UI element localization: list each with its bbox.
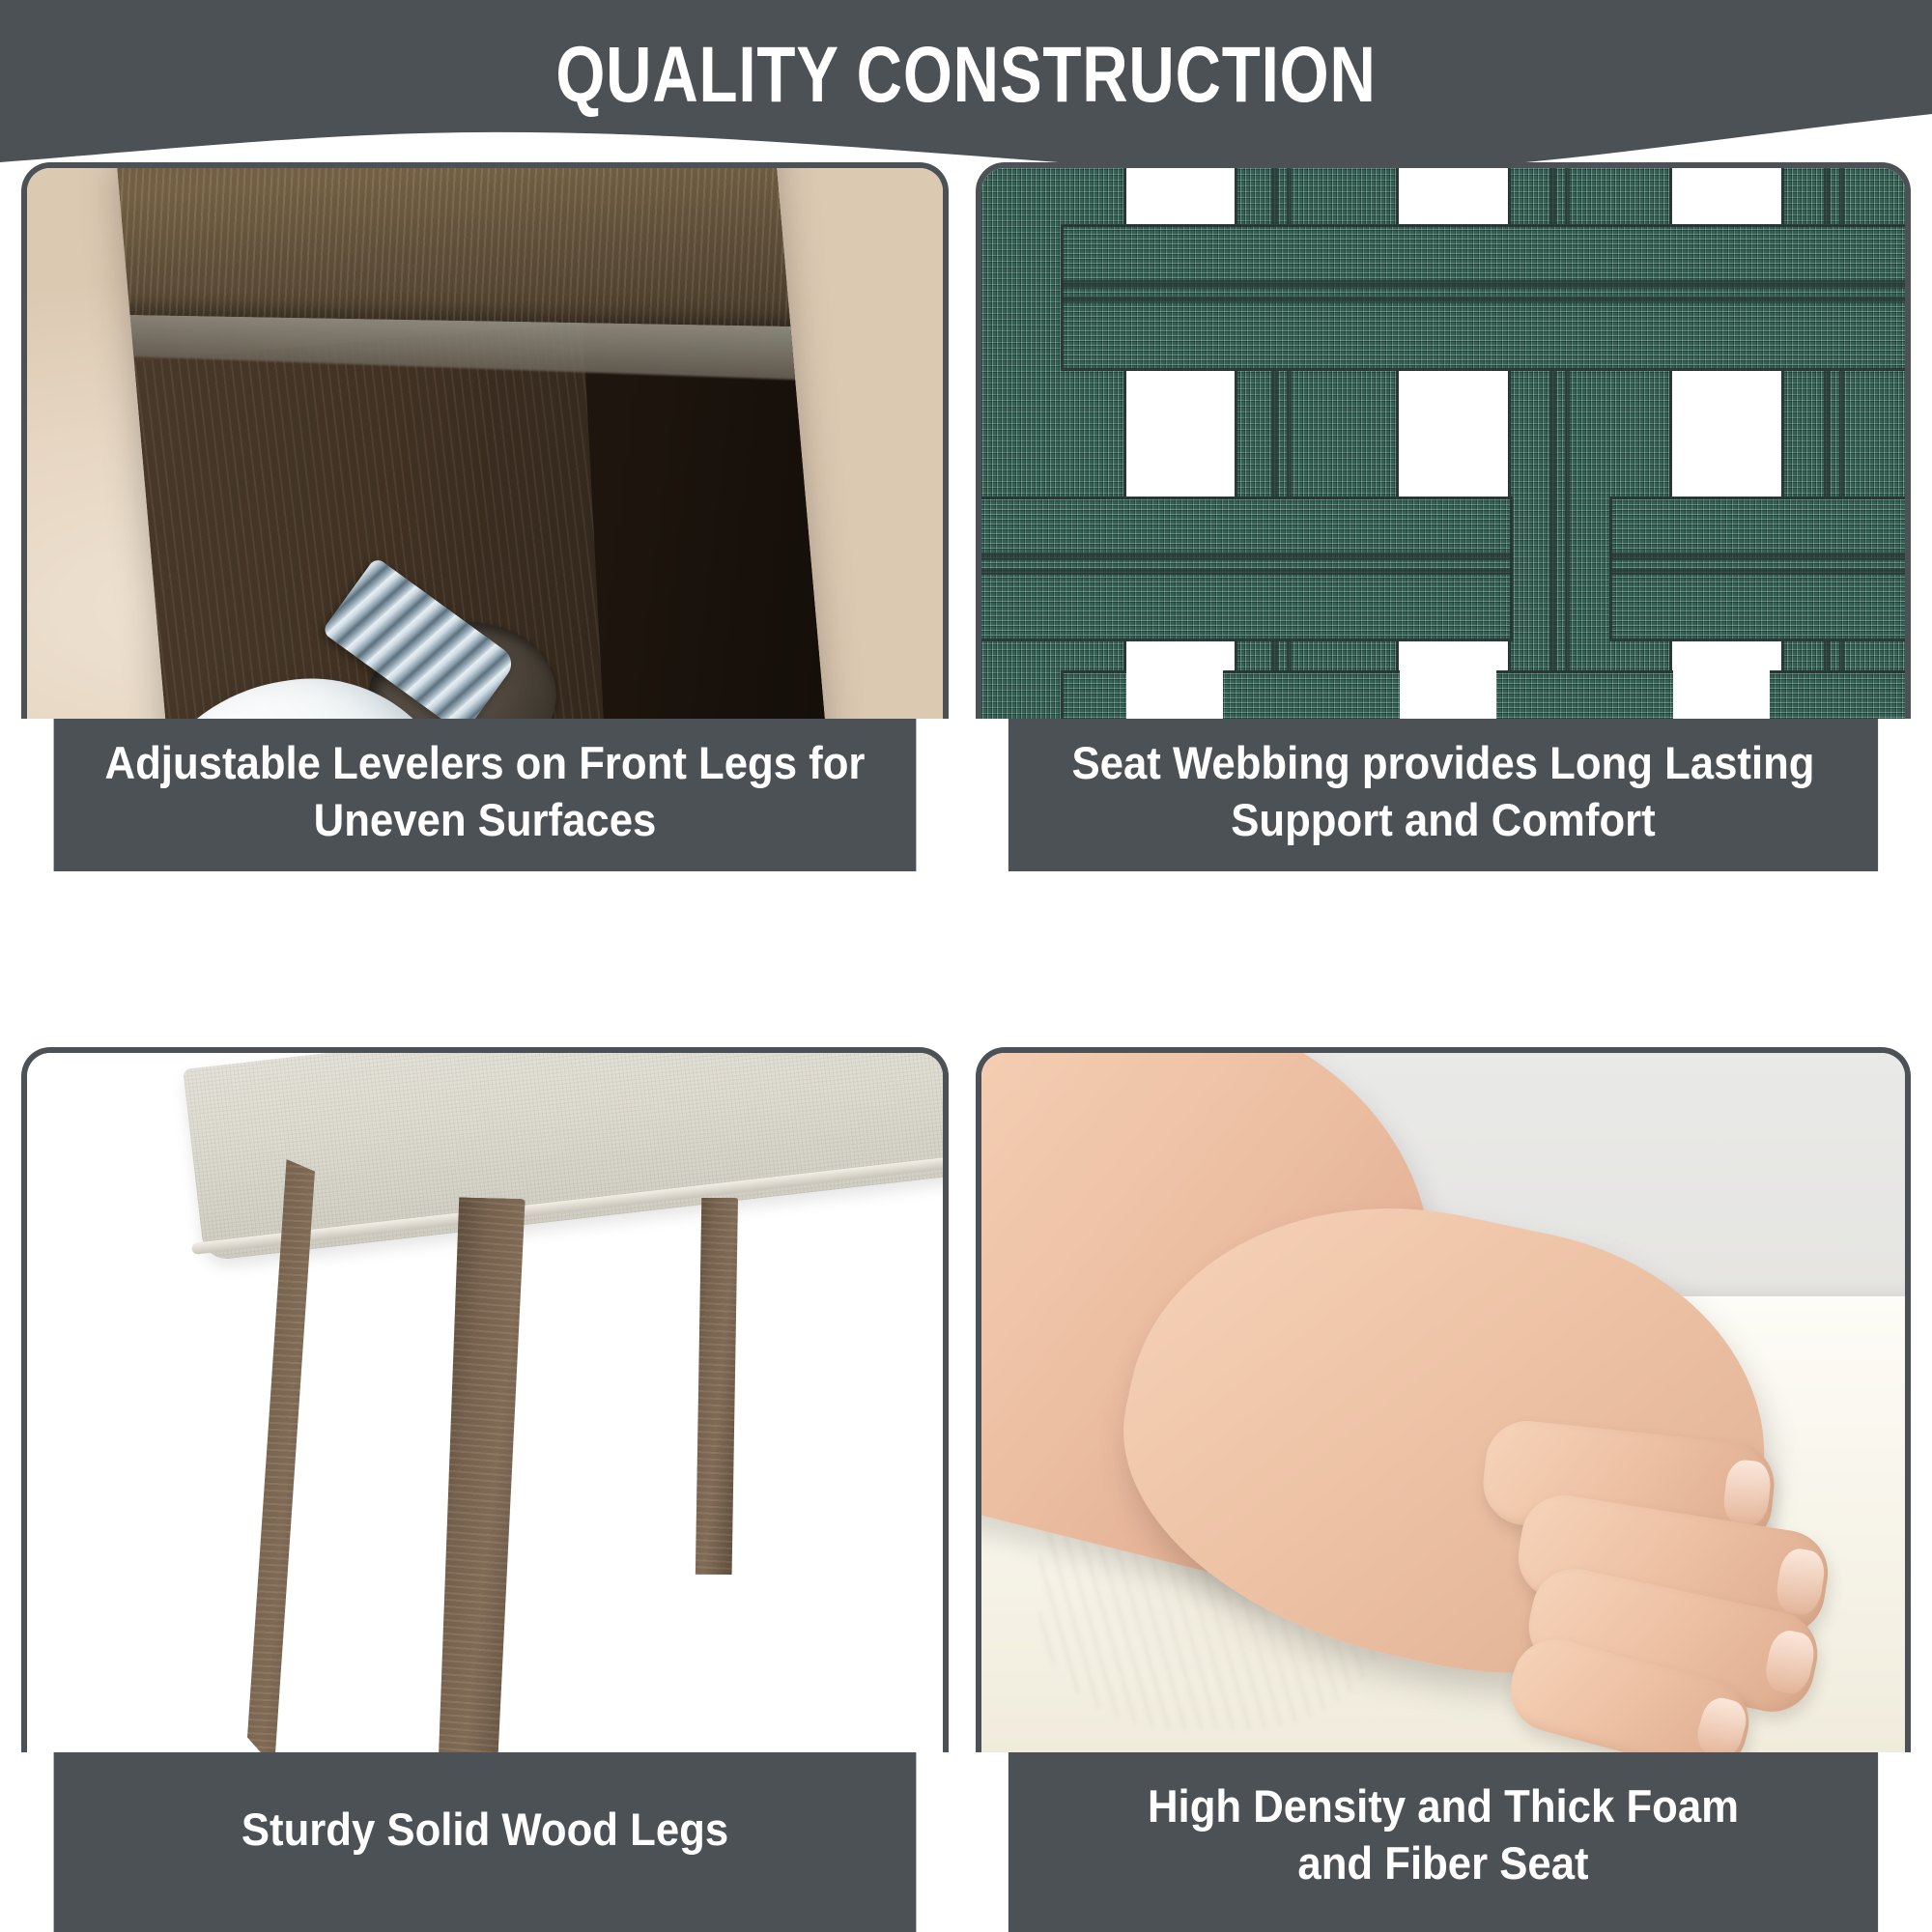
caption-line-2: and Fiber Seat <box>1025 1834 1862 1891</box>
foam-photo-background <box>981 1053 1905 1752</box>
webbing-gap <box>1126 373 1223 495</box>
levelers-caption: Adjustable Levelers on Front Legs for Un… <box>54 719 917 871</box>
caption-line-2: Uneven Surfaces <box>70 791 899 848</box>
webbing-gap <box>1400 373 1496 495</box>
webbing-tracer-horizontal <box>1609 569 1911 575</box>
caption-line-2: Support and Comfort <box>1025 791 1862 848</box>
chair-leg-rear-right <box>694 1198 738 1575</box>
feature-card-levelers[interactable]: Adjustable Levelers on Front Legs for Un… <box>21 162 949 1016</box>
wood-legs-image <box>21 1047 949 1752</box>
caption-line-1: Sturdy Solid Wood Legs <box>70 1801 899 1858</box>
wood-legs-caption: Sturdy Solid Wood Legs <box>54 1752 917 1932</box>
levelers-image <box>21 162 949 719</box>
page-title: QUALITY CONSTRUCTION <box>193 31 1739 120</box>
feature-card-wood-legs[interactable]: Sturdy Solid Wood Legs <box>21 1047 949 1932</box>
foam-image <box>976 1047 1911 1752</box>
feature-card-foam[interactable]: High Density and Thick Foam and Fiber Se… <box>976 1047 1911 1932</box>
webbing-gap <box>1400 162 1496 222</box>
webbing-tracer-horizontal <box>976 553 1513 560</box>
webbing-tracer-horizontal <box>1061 297 1911 302</box>
caption-line-1: High Density and Thick Foam <box>1025 1777 1862 1834</box>
webbing-tracer-horizontal <box>1061 280 1911 288</box>
webbing-image <box>976 162 1911 719</box>
webbing-gap <box>1126 162 1223 222</box>
webbing-caption: Seat Webbing provides Long Lasting Suppo… <box>1009 719 1878 871</box>
page-header: QUALITY CONSTRUCTION <box>0 0 1932 179</box>
webbing-gap <box>1400 643 1496 719</box>
webbing-gap <box>1673 162 1770 222</box>
webbing-gap <box>1673 643 1770 719</box>
webbing-tracer-horizontal <box>976 569 1513 575</box>
caption-line-1: Adjustable Levelers on Front Legs for <box>70 734 899 791</box>
feature-card-webbing[interactable]: Seat Webbing provides Long Lasting Suppo… <box>976 162 1911 1016</box>
webbing-tracer-horizontal <box>1609 553 1911 560</box>
webbing-gap <box>1673 373 1770 495</box>
webbing-gap <box>1126 643 1223 719</box>
feature-grid: Adjustable Levelers on Front Legs for Un… <box>0 162 1932 1932</box>
webbing-weave-graphic <box>981 168 1905 719</box>
chair-leg-front <box>433 1197 525 1752</box>
caption-line-1: Seat Webbing provides Long Lasting <box>1025 734 1862 791</box>
wood-leg-top-face <box>115 162 828 327</box>
foam-caption: High Density and Thick Foam and Fiber Se… <box>1009 1752 1878 1932</box>
wood-legs-photo-background <box>27 1053 943 1752</box>
